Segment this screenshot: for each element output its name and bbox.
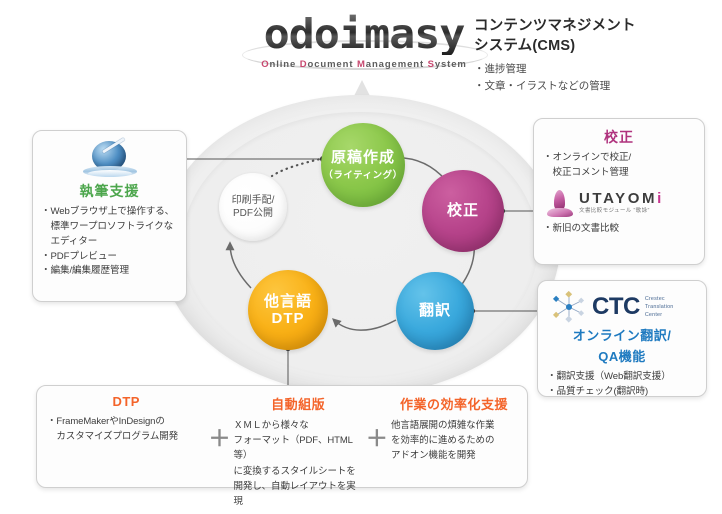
panel-translation-qa-title-line2: QA機能 (547, 349, 697, 366)
utayomi-product-name-accent: i (657, 190, 664, 207)
panel-writing-support-bullet-2: エディター (41, 235, 178, 250)
service-column-efficiency-title: 作業の効率化支援 (391, 394, 517, 413)
wave2-icon-shape (88, 170, 132, 177)
cycle-node-multilingual-dtp-sublabel: DTP (272, 310, 305, 327)
service-column-dtp-line-0: ・FrameMakerやInDesignの (47, 414, 205, 429)
service-column-efficiency-line-2: アドオン機能を開発 (391, 448, 517, 463)
panel-writing-support-bullet-4: ・編集/編集履歴管理 (41, 264, 178, 279)
service-column-dtp-title: DTP (47, 394, 205, 409)
service-column-auto-typesetting-line-2: に変換するスタイルシートを (233, 464, 362, 479)
ctc-subtitle-line2: Translation (645, 303, 674, 311)
panel-translation-qa-title-line1: オンライン翻訳/ (547, 328, 697, 345)
service-column-auto-typesetting: 自動組版 ＸＭＬから様々な フォーマット（PDF、HTML等） に変換するスタイ… (233, 392, 362, 509)
ctc-network-icon (551, 291, 587, 323)
service-column-efficiency-line-1: を効率的に進めるための (391, 433, 517, 448)
service-column-dtp: DTP ・FrameMakerやInDesignの カスタマイズプログラム開発 (47, 392, 205, 444)
cycle-node-proofreading[interactable]: 校正 (422, 170, 504, 252)
utayomi-product-name: UTAYOMi (579, 191, 664, 206)
diagram-canvas: odoimasy Online Document Management Syst… (0, 0, 722, 514)
ctc-subtitle-line3: Center (645, 311, 674, 319)
service-column-dtp-line-1: カスタマイズプログラム開発 (47, 429, 205, 444)
panel-proofreading-bullet-0: ・オンラインで校正/ (543, 151, 695, 166)
ctc-wordmark: CTC (592, 295, 640, 319)
cms-title-line1: コンテンツマネジメント (474, 16, 704, 36)
cms-title-line2: システム(CMS) (474, 36, 704, 56)
ctc-subtitle-line1: Crestec (645, 295, 674, 303)
service-column-auto-typesetting-title: 自動組版 (233, 394, 362, 413)
utayomi-logo: UTAYOMi 文書比較モジュール “歌詠” (547, 188, 695, 218)
cycle-node-multilingual-dtp[interactable]: 他言語 DTP (248, 270, 328, 350)
cycle-node-writing[interactable]: 原稿作成 （ライティング） (321, 123, 405, 207)
utayomi-product-name-main: UTAYOM (579, 190, 657, 207)
cycle-node-print-pdf[interactable]: 印刷手配/ PDF公開 (219, 173, 287, 241)
cycle-node-writing-sublabel: （ライティング） (323, 167, 402, 181)
service-column-efficiency: 作業の効率化支援 他言語展開の煩雑な作業 を効率的に進めるための アドオン機能を… (391, 392, 517, 464)
utayomi-logo-text: UTAYOMi 文書比較モジュール “歌詠” (579, 191, 664, 215)
panel-writing-support-bullet-3: ・PDFプレビュー (41, 250, 178, 265)
cycle-node-multilingual-dtp-label: 他言語 (264, 293, 312, 310)
panel-writing-support: 執筆支援 ・Webブラウザ上で操作する、 標準ワープロソフトライクな エディター… (32, 130, 187, 302)
service-column-efficiency-line-0: 他言語展開の煩雑な作業 (391, 418, 517, 433)
panel-writing-support-bullet-1: 標準ワープロソフトライクな (41, 220, 178, 235)
cycle-node-print-pdf-sublabel: PDF公開 (233, 207, 273, 221)
logo-wordmark: odoimasy (241, 14, 487, 55)
panel-translation-qa-bullet-1: ・品質チェック(翻訳時) (547, 385, 697, 400)
cms-bullet-1: ・文章・イラストなどの管理 (474, 78, 704, 95)
service-column-auto-typesetting-line-3: 開発し、自動レイアウトを実現 (233, 479, 362, 509)
cms-bullet-0: ・進捗管理 (474, 61, 704, 78)
utayomi-figure-base (547, 208, 573, 217)
panel-writing-support-title: 執筆支援 (41, 181, 178, 201)
cycle-node-translation[interactable]: 翻訳 (396, 272, 474, 350)
cycle-node-print-pdf-label: 印刷手配/ (232, 194, 275, 208)
ellipse-pointer-triangle (354, 80, 370, 96)
product-logo: odoimasy Online Document Management Syst… (248, 14, 480, 70)
utayomi-figure-body (554, 190, 565, 210)
cycle-node-translation-label: 翻訳 (419, 302, 451, 319)
ctc-subtitle: Crestec Translation Center (645, 295, 674, 319)
panel-translation-qa-bullet-0: ・翻訳支援（Web翻訳支援） (547, 370, 697, 385)
panel-services: DTP ・FrameMakerやInDesignの カスタマイズプログラム開発 … (36, 385, 528, 488)
plus-separator-1: ＋ (208, 421, 230, 459)
panel-translation-qa: CTC Crestec Translation Center オンライン翻訳/ … (537, 280, 707, 397)
ctc-logo: CTC Crestec Translation Center (551, 291, 697, 323)
utayomi-figure-icon (547, 188, 573, 218)
plus-separator-2: ＋ (366, 421, 388, 459)
cms-caption: コンテンツマネジメント システム(CMS) ・進捗管理 ・文章・イラストなどの管… (474, 16, 704, 95)
panel-writing-support-bullet-0: ・Webブラウザ上で操作する、 (41, 205, 178, 220)
cycle-node-proofreading-label: 校正 (447, 202, 479, 219)
logo-tagline: Online Document Management System (248, 59, 480, 70)
panel-proofreading-bullet-1: 校正コメント管理 (543, 166, 695, 181)
service-column-auto-typesetting-line-1: フォーマット（PDF、HTML等） (233, 433, 362, 463)
service-column-auto-typesetting-line-0: ＸＭＬから様々な (233, 418, 362, 433)
panel-proofreading-title: 校正 (543, 127, 695, 147)
globe-pen-icon (81, 141, 139, 179)
panel-proofreading: 校正 ・オンラインで校正/ 校正コメント管理 UTAYOMi 文書比較モジュール… (533, 118, 705, 265)
cycle-node-writing-label: 原稿作成 (331, 149, 395, 166)
panel-proofreading-bullet-2: ・新旧の文書比較 (543, 222, 695, 237)
utayomi-product-subtitle: 文書比較モジュール “歌詠” (579, 209, 664, 215)
